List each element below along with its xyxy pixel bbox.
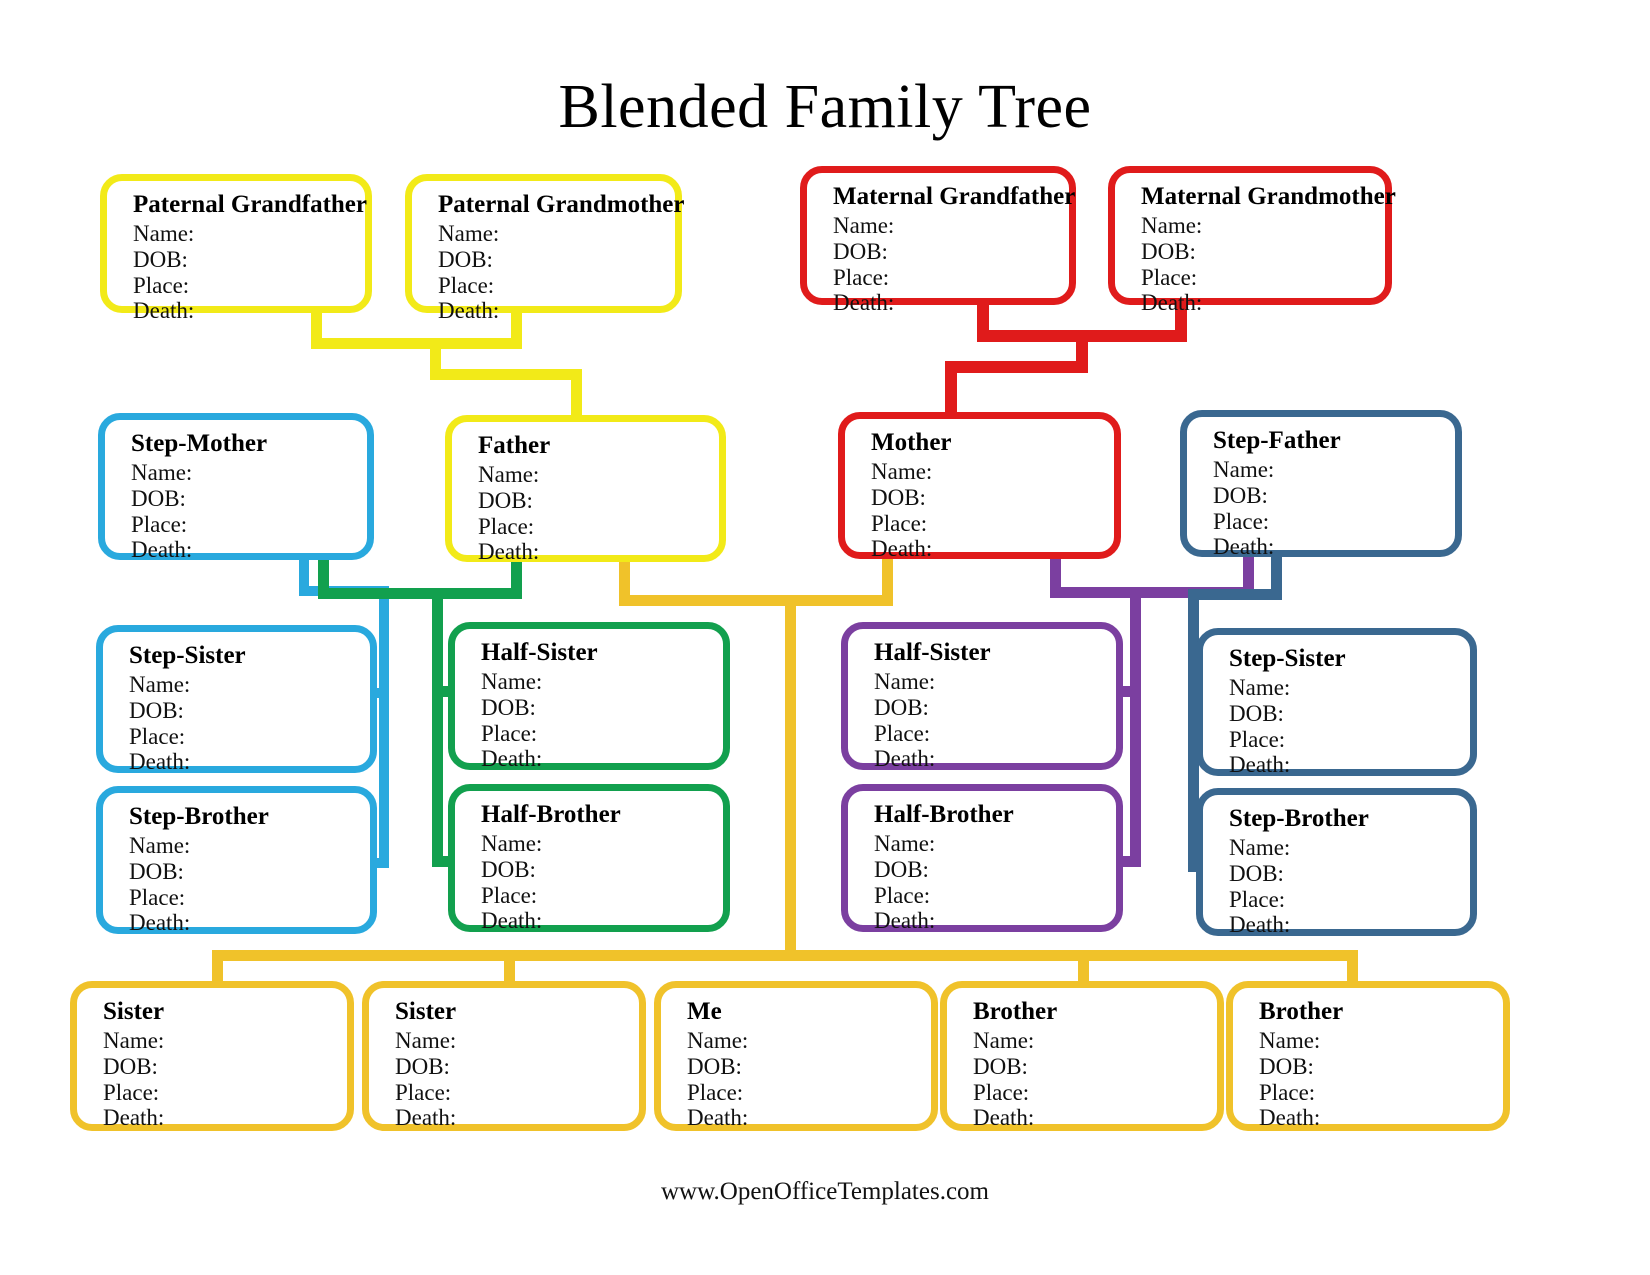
dob-field[interactable]: DOB:: [395, 1054, 639, 1080]
name-field[interactable]: Name:: [874, 669, 1116, 695]
dob-field[interactable]: DOB:: [874, 857, 1116, 883]
place-field[interactable]: Place:: [1141, 265, 1385, 291]
dob-field[interactable]: DOB:: [103, 1054, 347, 1080]
death-field[interactable]: Death:: [129, 749, 370, 775]
place-field[interactable]: Place:: [478, 514, 719, 540]
place-field[interactable]: Place:: [129, 724, 370, 750]
person-title: Half-Sister: [481, 639, 723, 667]
name-field[interactable]: Name:: [103, 1028, 347, 1054]
death-field[interactable]: Death:: [973, 1105, 1217, 1131]
person-title: Me: [687, 998, 931, 1026]
person-box-half-brother-right[interactable]: Half-BrotherName:DOB:Place:Death:: [841, 784, 1123, 932]
death-field[interactable]: Death:: [481, 908, 723, 934]
name-field[interactable]: Name:: [1141, 213, 1385, 239]
person-title: Maternal Grandfather: [833, 183, 1069, 211]
place-field[interactable]: Place:: [833, 265, 1069, 291]
name-field[interactable]: Name:: [874, 831, 1116, 857]
person-box-brother-1[interactable]: BrotherName:DOB:Place:Death:: [940, 981, 1224, 1131]
death-field[interactable]: Death:: [133, 298, 365, 324]
place-field[interactable]: Place:: [1229, 727, 1470, 753]
person-box-step-sister-right[interactable]: Step-SisterName:DOB:Place:Death:: [1196, 628, 1477, 776]
death-field[interactable]: Death:: [687, 1105, 931, 1131]
place-field[interactable]: Place:: [481, 721, 723, 747]
place-field[interactable]: Place:: [1259, 1080, 1503, 1106]
name-field[interactable]: Name:: [973, 1028, 1217, 1054]
person-title: Brother: [1259, 998, 1503, 1026]
person-title: Sister: [103, 998, 347, 1026]
person-box-layer: Paternal GrandfatherName:DOB:Place:Death…: [0, 0, 1650, 1275]
name-field[interactable]: Name:: [871, 459, 1114, 485]
death-field[interactable]: Death:: [1229, 752, 1470, 778]
death-field[interactable]: Death:: [103, 1105, 347, 1131]
dob-field[interactable]: DOB:: [687, 1054, 931, 1080]
person-box-maternal-grandmother[interactable]: Maternal GrandmotherName:DOB:Place:Death…: [1108, 166, 1392, 305]
person-title: Step-Mother: [131, 430, 367, 458]
dob-field[interactable]: DOB:: [481, 857, 723, 883]
person-box-me[interactable]: MeName:DOB:Place:Death:: [654, 981, 938, 1131]
death-field[interactable]: Death:: [131, 537, 367, 563]
person-box-sister-1[interactable]: SisterName:DOB:Place:Death:: [70, 981, 354, 1131]
place-field[interactable]: Place:: [103, 1080, 347, 1106]
person-box-brother-2[interactable]: BrotherName:DOB:Place:Death:: [1226, 981, 1510, 1131]
person-title: Step-Brother: [1229, 805, 1470, 833]
death-field[interactable]: Death:: [1259, 1105, 1503, 1131]
place-field[interactable]: Place:: [687, 1080, 931, 1106]
name-field[interactable]: Name:: [395, 1028, 639, 1054]
person-title: Step-Sister: [129, 642, 370, 670]
dob-field[interactable]: DOB:: [833, 239, 1069, 265]
person-box-father[interactable]: FatherName:DOB:Place:Death:: [445, 415, 726, 562]
dob-field[interactable]: DOB:: [129, 859, 370, 885]
death-field[interactable]: Death:: [833, 290, 1069, 316]
person-title: Step-Father: [1213, 427, 1455, 455]
name-field[interactable]: Name:: [478, 462, 719, 488]
place-field[interactable]: Place:: [438, 273, 675, 299]
name-field[interactable]: Name:: [129, 833, 370, 859]
person-box-half-sister-left[interactable]: Half-SisterName:DOB:Place:Death:: [448, 622, 730, 770]
place-field[interactable]: Place:: [131, 512, 367, 538]
name-field[interactable]: Name:: [129, 672, 370, 698]
person-title: Half-Brother: [874, 801, 1116, 829]
person-box-paternal-grandfather[interactable]: Paternal GrandfatherName:DOB:Place:Death…: [100, 174, 372, 313]
person-title: Paternal Grandfather: [133, 191, 365, 219]
person-title: Father: [478, 432, 719, 460]
dob-field[interactable]: DOB:: [871, 485, 1114, 511]
person-box-step-sister-left[interactable]: Step-SisterName:DOB:Place:Death:: [96, 625, 377, 773]
place-field[interactable]: Place:: [1229, 887, 1470, 913]
name-field[interactable]: Name:: [481, 831, 723, 857]
person-box-step-brother-left[interactable]: Step-BrotherName:DOB:Place:Death:: [96, 786, 377, 934]
name-field[interactable]: Name:: [1259, 1028, 1503, 1054]
name-field[interactable]: Name:: [131, 460, 367, 486]
place-field[interactable]: Place:: [874, 883, 1116, 909]
place-field[interactable]: Place:: [129, 885, 370, 911]
dob-field[interactable]: DOB:: [481, 695, 723, 721]
death-field[interactable]: Death:: [129, 910, 370, 936]
dob-field[interactable]: DOB:: [1141, 239, 1385, 265]
dob-field[interactable]: DOB:: [1229, 861, 1470, 887]
place-field[interactable]: Place:: [1213, 509, 1455, 535]
death-field[interactable]: Death:: [871, 536, 1114, 562]
person-box-step-mother[interactable]: Step-MotherName:DOB:Place:Death:: [98, 413, 374, 560]
death-field[interactable]: Death:: [874, 746, 1116, 772]
dob-field[interactable]: DOB:: [874, 695, 1116, 721]
place-field[interactable]: Place:: [871, 511, 1114, 537]
name-field[interactable]: Name:: [133, 221, 365, 247]
dob-field[interactable]: DOB:: [973, 1054, 1217, 1080]
person-box-step-brother-right[interactable]: Step-BrotherName:DOB:Place:Death:: [1196, 788, 1477, 936]
person-box-step-father[interactable]: Step-FatherName:DOB:Place:Death:: [1180, 410, 1462, 557]
death-field[interactable]: Death:: [395, 1105, 639, 1131]
person-title: Maternal Grandmother: [1141, 183, 1385, 211]
name-field[interactable]: Name:: [833, 213, 1069, 239]
person-title: Step-Sister: [1229, 645, 1470, 673]
death-field[interactable]: Death:: [1213, 534, 1455, 560]
death-field[interactable]: Death:: [481, 746, 723, 772]
person-box-mother[interactable]: MotherName:DOB:Place:Death:: [838, 412, 1121, 559]
dob-field[interactable]: DOB:: [1213, 483, 1455, 509]
person-box-sister-2[interactable]: SisterName:DOB:Place:Death:: [362, 981, 646, 1131]
place-field[interactable]: Place:: [481, 883, 723, 909]
person-box-paternal-grandmother[interactable]: Paternal GrandmotherName:DOB:Place:Death…: [405, 174, 682, 313]
death-field[interactable]: Death:: [1229, 912, 1470, 938]
death-field[interactable]: Death:: [1141, 290, 1385, 316]
place-field[interactable]: Place:: [874, 721, 1116, 747]
death-field[interactable]: Death:: [438, 298, 675, 324]
dob-field[interactable]: DOB:: [438, 247, 675, 273]
person-box-half-sister-right[interactable]: Half-SisterName:DOB:Place:Death:: [841, 622, 1123, 770]
person-title: Sister: [395, 998, 639, 1026]
name-field[interactable]: Name:: [1229, 675, 1470, 701]
person-title: Half-Brother: [481, 801, 723, 829]
dob-field[interactable]: DOB:: [133, 247, 365, 273]
dob-field[interactable]: DOB:: [129, 698, 370, 724]
dob-field[interactable]: DOB:: [1229, 701, 1470, 727]
person-title: Brother: [973, 998, 1217, 1026]
place-field[interactable]: Place:: [395, 1080, 639, 1106]
person-title: Paternal Grandmother: [438, 191, 675, 219]
person-title: Half-Sister: [874, 639, 1116, 667]
death-field[interactable]: Death:: [874, 908, 1116, 934]
name-field[interactable]: Name:: [1229, 835, 1470, 861]
dob-field[interactable]: DOB:: [478, 488, 719, 514]
name-field[interactable]: Name:: [438, 221, 675, 247]
name-field[interactable]: Name:: [481, 669, 723, 695]
name-field[interactable]: Name:: [1213, 457, 1455, 483]
family-tree-diagram: Blended Family Tree Paternal Grandfather…: [0, 0, 1650, 1275]
dob-field[interactable]: DOB:: [131, 486, 367, 512]
person-box-half-brother-left[interactable]: Half-BrotherName:DOB:Place:Death:: [448, 784, 730, 932]
place-field[interactable]: Place:: [973, 1080, 1217, 1106]
place-field[interactable]: Place:: [133, 273, 365, 299]
name-field[interactable]: Name:: [687, 1028, 931, 1054]
dob-field[interactable]: DOB:: [1259, 1054, 1503, 1080]
person-box-maternal-grandfather[interactable]: Maternal GrandfatherName:DOB:Place:Death…: [800, 166, 1076, 305]
person-title: Step-Brother: [129, 803, 370, 831]
death-field[interactable]: Death:: [478, 539, 719, 565]
person-title: Mother: [871, 429, 1114, 457]
